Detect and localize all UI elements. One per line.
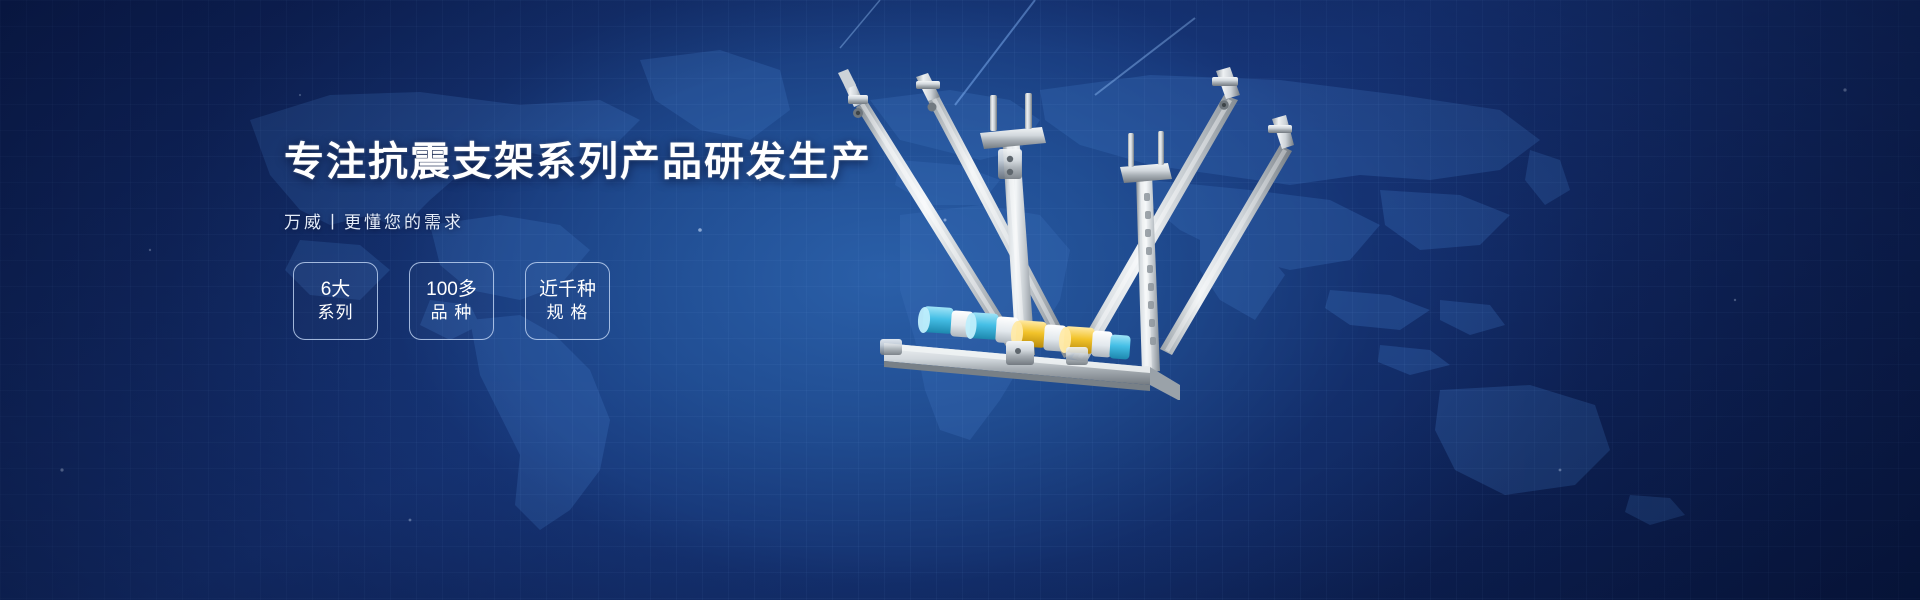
badge-line-1: 100多 [426, 278, 477, 302]
feature-badge-specs[interactable]: 近千种 规 格 [525, 262, 610, 340]
badge-line-2: 系列 [318, 302, 354, 324]
badge-line-1: 近千种 [539, 278, 596, 302]
pipe-cyan-2 [965, 312, 999, 340]
feature-badge-list: 6大 系列 100多 品 种 近千种 规 格 [293, 262, 610, 340]
hero-subline: 万威丨更懂您的需求 [284, 208, 904, 233]
badge-line-2: 规 格 [547, 302, 589, 324]
product-image-seismic-bracing [820, 55, 1380, 400]
hero-headline: 专注抗震支架系列产品研发生产 [284, 140, 904, 184]
pipe-cyan-1 [917, 306, 954, 334]
hero-banner: 专注抗震支架系列产品研发生产 万威丨更懂您的需求 6大 系列 100多 品 种 … [0, 0, 1920, 600]
pipe-cyan-3 [1109, 334, 1131, 359]
brace-arm-farright [1160, 115, 1294, 355]
badge-line-2: 品 种 [431, 302, 473, 324]
hero-copy: 专注抗震支架系列产品研发生产 万威丨更懂您的需求 [284, 140, 904, 233]
feature-badge-varieties[interactable]: 100多 品 种 [409, 262, 494, 340]
badge-line-1: 6大 [321, 278, 351, 302]
feature-badge-series[interactable]: 6大 系列 [293, 262, 378, 340]
